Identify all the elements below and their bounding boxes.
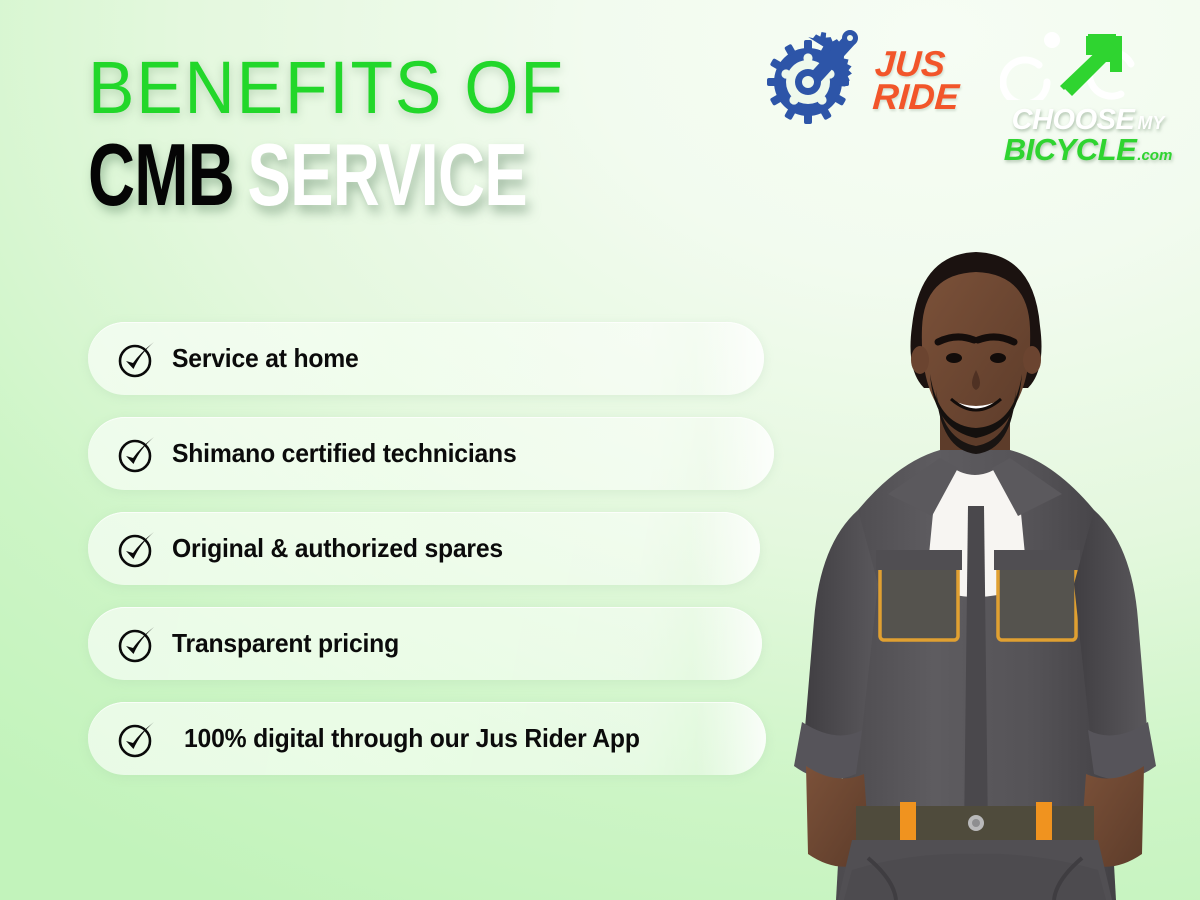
- jusride-wordmark: JUS RIDE: [872, 47, 963, 113]
- benefit-item[interactable]: Transparent pricing: [88, 607, 762, 680]
- cmb-word-choose: CHOOSE: [1012, 107, 1135, 135]
- check-circle-icon: [116, 623, 158, 665]
- benefits-poster: BENEFITS OF CMBSERVICE: [0, 0, 1200, 900]
- jusride-logo[interactable]: JUS RIDE: [760, 26, 960, 135]
- check-circle-icon: [116, 433, 158, 475]
- check-circle-icon: [116, 338, 158, 380]
- benefits-list: Service at home Shimano certified techni…: [88, 322, 774, 775]
- benefit-label: 100% digital through our Jus Rider App: [184, 723, 640, 754]
- benefit-item[interactable]: Shimano certified technicians: [88, 417, 774, 490]
- headline-line-benefits: BENEFITS OF: [88, 52, 646, 125]
- headline-brand-cmb: CMB: [88, 125, 234, 224]
- headline-line-service: CMBSERVICE: [88, 131, 527, 219]
- logo-bar: JUS RIDE: [760, 26, 1176, 164]
- choosemybicycle-logo[interactable]: CHOOSE MY BICYCLE .com: [1000, 26, 1176, 164]
- benefit-item[interactable]: 100% digital through our Jus Rider App: [88, 702, 766, 775]
- benefit-label: Original & authorized spares: [172, 533, 503, 564]
- choosemybicycle-wordmark: CHOOSE MY BICYCLE .com: [1004, 107, 1173, 164]
- cmb-wordmark-row1: CHOOSE MY: [1004, 107, 1173, 135]
- benefit-label: Transparent pricing: [172, 628, 399, 659]
- cmb-word-my: MY: [1137, 115, 1164, 132]
- bicycle-arrow-icon: [1000, 26, 1176, 105]
- benefit-label: Service at home: [172, 343, 359, 374]
- headline-word-service: SERVICE: [247, 125, 527, 224]
- technician-photo: [740, 210, 1200, 900]
- jusride-line2: RIDE: [872, 81, 960, 114]
- chainring-crank-icon: [760, 26, 864, 135]
- check-circle-icon: [116, 718, 158, 760]
- cmb-word-bicycle: BICYCLE: [1004, 135, 1137, 164]
- headline-block: BENEFITS OF CMBSERVICE: [88, 52, 681, 219]
- cmb-word-dotcom: .com: [1137, 149, 1172, 163]
- benefit-item[interactable]: Service at home: [88, 322, 764, 395]
- benefit-item[interactable]: Original & authorized spares: [88, 512, 760, 585]
- benefit-label: Shimano certified technicians: [172, 438, 517, 469]
- check-circle-icon: [116, 528, 158, 570]
- cmb-wordmark-row2: BICYCLE .com: [1004, 135, 1173, 164]
